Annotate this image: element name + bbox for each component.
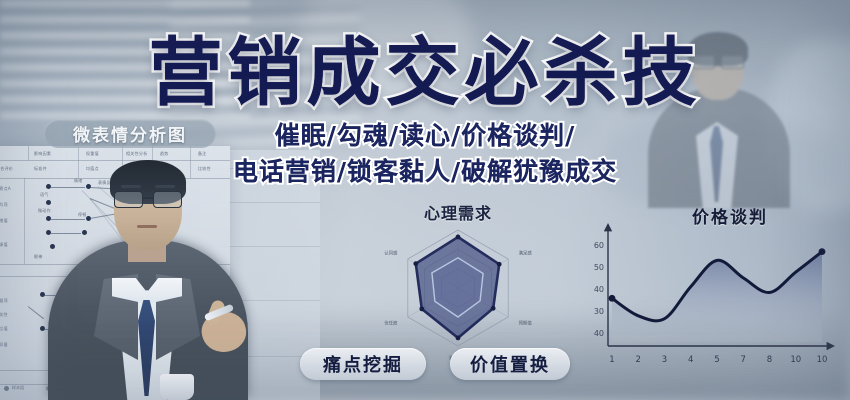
svg-text:10: 10 bbox=[817, 355, 828, 365]
svg-text:1: 1 bbox=[609, 355, 614, 365]
svg-text:40: 40 bbox=[594, 285, 604, 294]
marketing-banner: 影响因素 权重值 相关性分析 趋势 备注 综合评价 标准件 均值点 方向 2 区… bbox=[0, 0, 850, 400]
svg-text:满足感: 满足感 bbox=[519, 250, 533, 257]
sheet-left-label-0: 观察点A bbox=[0, 186, 11, 192]
radar-chart: 心理需求 需求满足感预期值购买意愿信任度认同感 bbox=[352, 200, 564, 360]
svg-text:7: 7 bbox=[741, 355, 746, 365]
glasses-icon bbox=[112, 191, 184, 208]
sheet-left-label-lower-3: 差异量 bbox=[0, 342, 8, 348]
subline-1: 催眠/勾魂/读心/价格谈判/ bbox=[0, 122, 850, 150]
sheet-left-label-1: 行为项 bbox=[0, 202, 8, 208]
subline-2: 电话营销/锁客黏人/破解犹豫成交 bbox=[0, 158, 850, 186]
sheet-left-label-lower-1: 相关性 bbox=[0, 312, 8, 318]
svg-text:3: 3 bbox=[662, 355, 667, 365]
sheet-left-label-2: 情绪值 bbox=[0, 218, 8, 224]
svg-text:需求: 需求 bbox=[454, 218, 463, 222]
svg-text:40: 40 bbox=[594, 329, 604, 338]
svg-text:认同感: 认同感 bbox=[384, 250, 398, 257]
page-title: 营销成交必杀技 bbox=[0, 36, 850, 110]
svg-text:8: 8 bbox=[767, 355, 772, 365]
value-exchange-button[interactable]: 价值置换 bbox=[450, 348, 570, 380]
pain-point-button[interactable]: 痛点挖掘 bbox=[300, 348, 426, 380]
svg-text:60: 60 bbox=[594, 241, 604, 250]
svg-text:5: 5 bbox=[714, 355, 719, 365]
sheet-left-label-lower-0: 数据项 bbox=[0, 298, 8, 304]
value-exchange-label: 价值置换 bbox=[470, 351, 550, 377]
svg-text:50: 50 bbox=[594, 263, 604, 272]
line-chart: 价格谈判 6050403040 12345781010 bbox=[578, 200, 840, 380]
svg-text:2: 2 bbox=[636, 355, 641, 365]
svg-text:10: 10 bbox=[790, 355, 801, 365]
svg-text:30: 30 bbox=[594, 307, 604, 316]
radar-chart-svg: 需求满足感预期值购买意愿信任度认同感 bbox=[352, 218, 564, 360]
svg-text:预期值: 预期值 bbox=[519, 320, 533, 327]
sheet-left-label-lower-2: 对比值 bbox=[0, 326, 8, 332]
svg-text:4: 4 bbox=[688, 355, 693, 365]
pain-point-label: 痛点挖掘 bbox=[323, 351, 403, 377]
svg-text:信任度: 信任度 bbox=[384, 320, 398, 327]
line-chart-svg: 6050403040 12345781010 bbox=[578, 222, 840, 380]
sheet-left-label-3: 反馈值 bbox=[0, 242, 8, 248]
